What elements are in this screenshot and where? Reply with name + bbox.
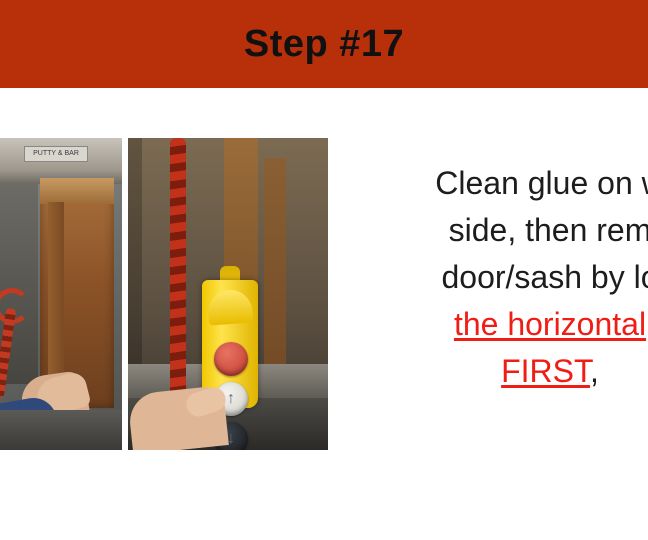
instruction-emphasis-1: the horizontal xyxy=(454,306,646,342)
photo-left-floor xyxy=(0,410,122,450)
slide: Step #17 PUTTY & BAR xyxy=(0,0,648,540)
instruction-line-1: Clean glue on w xyxy=(340,160,648,207)
photo-left-door-rail xyxy=(40,178,114,204)
instruction-text: Clean glue on w side, then rem door/sash… xyxy=(340,160,648,395)
instruction-comma: , xyxy=(590,353,599,389)
emergency-stop-button[interactable] xyxy=(214,342,248,376)
instruction-line-5: FIRST, xyxy=(340,348,648,395)
page-title: Step #17 xyxy=(0,0,648,88)
photo-strip: PUTTY & BAR ↑ xyxy=(0,138,332,450)
instruction-line-3: door/sash by lo xyxy=(340,254,648,301)
instruction-emphasis-2: FIRST xyxy=(501,353,590,389)
instruction-line-4: the horizontal xyxy=(340,301,648,348)
photo-worker-cleaning-glue: PUTTY & BAR xyxy=(0,138,122,450)
photo-crane-pendant-control: ↑ ↓ → xyxy=(128,138,328,450)
instruction-line-2: side, then rem xyxy=(340,207,648,254)
photo-left-label: PUTTY & BAR xyxy=(24,146,88,162)
